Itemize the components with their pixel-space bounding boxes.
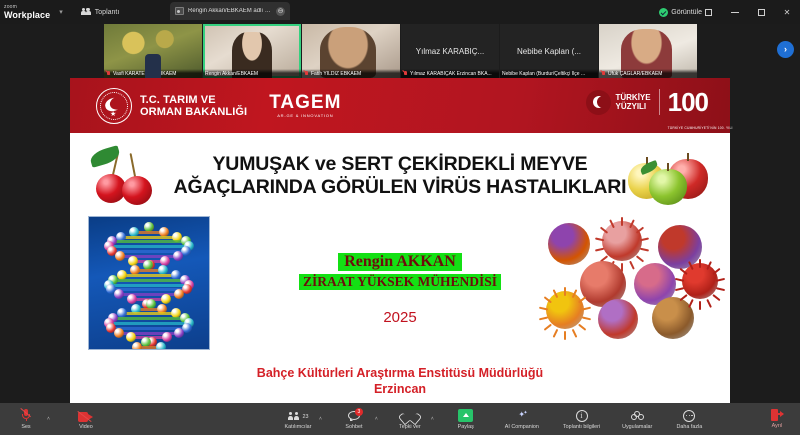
maximize-icon <box>758 9 765 16</box>
participant-name: Yılmaz KARABIÇAK Erzincan BKA... <box>410 71 492 77</box>
brand-main-label: Workplace <box>4 11 50 20</box>
author-role: ZİRAAT YÜKSEK MÜHENDİSİ <box>299 274 501 290</box>
close-icon: ✕ <box>784 8 791 17</box>
close-icon[interactable]: ⊖ <box>276 7 285 16</box>
chat-icon: 3 <box>348 411 360 422</box>
chat-button[interactable]: 3 Sohbet <box>334 409 374 430</box>
chevron-down-icon[interactable]: ▾ <box>59 8 63 16</box>
author-name: Rengin AKKAN <box>338 253 462 271</box>
meetings-label: Toplantı <box>95 9 120 16</box>
meeting-info-label: Toplantı bilgileri <box>563 424 600 430</box>
slide-author-block: Rengin AKKAN ZİRAAT YÜKSEK MÜHENDİSİ 202… <box>70 253 730 326</box>
layout-icon <box>705 9 712 16</box>
chat-unread-badge: 3 <box>355 408 363 416</box>
zoom-workplace-logo: zoom Workplace <box>4 5 50 20</box>
ellipsis-icon <box>683 410 695 422</box>
apps-button[interactable]: Uygulamalar <box>617 409 657 430</box>
tagem-subtitle: AR-GE & INNOVATION <box>269 113 341 118</box>
video-tab-icon <box>175 7 184 15</box>
participant-initials: Nebibe Kaplan (... <box>517 47 581 56</box>
participant-name: Vasfi KARATEPE / EBKAEM <box>113 71 176 77</box>
share-label: Paylaş <box>458 424 474 430</box>
people-icon <box>81 8 92 17</box>
tile-name-bar: Vasfi KARATEPE / EBKAEM <box>104 69 202 78</box>
reactions-button[interactable]: Tepki ver <box>390 409 430 430</box>
participant-name: Fatih YILDIZ EBKAEM <box>311 71 361 77</box>
video-tile-nebibe[interactable]: Nebibe Kaplan (... Nebibe Kaplan (Burdur… <box>500 24 598 78</box>
meeting-tab-title: Rengin Akkan/EBKAEM adlı kişini... <box>188 8 272 14</box>
tile-name-bar: Ufuk ÇAĞLAR/EBKAEM <box>599 69 697 78</box>
shared-screen-slide: ★ T.C. TARIM VE ORMAN BAKANLIĞI TAGEM AR… <box>70 78 730 403</box>
mic-off-icon <box>22 409 31 422</box>
participants-count: 23 <box>303 411 309 420</box>
audio-options-caret[interactable]: ˄ <box>47 416 52 422</box>
slide-year: 2025 <box>70 309 730 326</box>
participants-icon <box>288 412 301 422</box>
slide-body: YUMUŞAK ve SERT ÇEKİRDEKLİ MEYVE AĞAÇLAR… <box>70 133 730 403</box>
mic-off-icon <box>106 71 111 77</box>
participant-name: Nebibe Kaplan (Burdur/Çeltikçi İlçe ... <box>502 71 585 77</box>
participants-options-caret[interactable]: ˄ <box>319 416 324 422</box>
tile-name-bar: Fatih YILDIZ EBKAEM <box>302 69 400 78</box>
ministry-line-2: ORMAN BAKANLIĞI <box>140 106 247 118</box>
heart-icon <box>404 411 416 422</box>
centenary-number: 100 TÜRKİYE CUMHURİYETİ'NİN 100. YILI <box>668 89 708 115</box>
main-controls-group: 23 Katılımcılar ˄ 3 Sohbet ˄ Tepki ver <box>278 403 709 435</box>
centenary-logos: TÜRKİYE YÜZYILI 100 TÜRKİYE CUMHURİYETİ'… <box>586 89 708 115</box>
leave-label: Ayrıl <box>772 423 783 429</box>
participants-button[interactable]: 23 Katılımcılar <box>278 409 318 430</box>
sparkle-icon: ✦✦ <box>515 410 528 422</box>
apps-icon <box>631 411 644 422</box>
mic-off-icon <box>601 71 606 77</box>
meeting-toolbar: Ses ˄ Video 23 Katılımcılar ˄ <box>0 403 800 435</box>
brand-small-label: zoom <box>4 5 50 10</box>
window-controls-group: Görüntüle ✕ <box>659 0 800 24</box>
turkiye-yuzyili-logo: TÜRKİYE YÜZYILI <box>586 90 650 115</box>
mic-off-icon <box>304 71 309 77</box>
reactions-options-caret[interactable]: ˄ <box>431 416 436 422</box>
zoom-meeting-window: zoom Workplace ▾ Toplantı Rengin Akkan/E… <box>0 0 800 435</box>
leave-meeting-button[interactable]: Ayrıl <box>760 403 794 435</box>
video-tile-vasfi[interactable]: Vasfi KARATEPE / EBKAEM <box>104 24 202 78</box>
av-controls-group: Ses ˄ Video <box>6 403 106 435</box>
audio-label: Ses <box>21 424 30 430</box>
ministry-name: T.C. TARIM VE ORMAN BAKANLIĞI <box>140 94 247 118</box>
filmstrip-next-button[interactable]: › <box>777 41 794 58</box>
video-tile-fatih[interactable]: Fatih YILDIZ EBKAEM <box>302 24 400 78</box>
tile-name-bar: Yılmaz KARABIÇAK Erzincan BKA... <box>401 69 499 78</box>
minimize-icon <box>731 12 739 13</box>
turkiye-line-2: YÜZYILI <box>615 102 650 111</box>
turkiye-line-1: TÜRKİYE <box>615 93 650 102</box>
video-label: Video <box>79 424 93 430</box>
participant-name: Rengin Akkan/EBKAEM <box>205 71 258 77</box>
title-bar: zoom Workplace ▾ Toplantı Rengin Akkan/E… <box>0 0 800 24</box>
slide-header-banner: ★ T.C. TARIM VE ORMAN BAKANLIĞI TAGEM AR… <box>70 78 730 133</box>
more-button[interactable]: Daha fazla <box>669 409 709 430</box>
maximize-button[interactable] <box>748 0 774 24</box>
leave-icon <box>771 409 783 421</box>
ai-companion-button[interactable]: ✦✦ AI Companion <box>500 409 544 430</box>
reactions-label: Tepki ver <box>399 424 421 430</box>
footer-line-1: Bahçe Kültürleri Araştırma Enstitüsü Müd… <box>70 365 730 381</box>
video-tile-yilmaz[interactable]: Yılmaz KARABIÇ... Yılmaz KARABIÇAK Erzin… <box>401 24 499 78</box>
mic-off-icon <box>403 71 408 77</box>
meeting-tab[interactable]: Rengin Akkan/EBKAEM adlı kişini... ⊖ <box>170 2 290 20</box>
slide-title: YUMUŞAK ve SERT ÇEKİRDEKLİ MEYVE AĞAÇLAR… <box>70 153 730 199</box>
minimize-button[interactable] <box>722 0 748 24</box>
chat-options-caret[interactable]: ˄ <box>375 416 380 422</box>
crescent-icon <box>586 90 611 115</box>
slide-footer: Bahçe Kültürleri Araştırma Enstitüsü Müd… <box>70 365 730 397</box>
participant-filmstrip[interactable]: Vasfi KARATEPE / EBKAEM Rengin Akkan/EBK… <box>0 24 800 78</box>
ministry-line-1: T.C. TARIM VE <box>140 94 247 106</box>
apps-label: Uygulamalar <box>622 424 652 430</box>
view-label: Görüntüle <box>671 9 702 16</box>
share-screen-icon <box>458 409 473 422</box>
more-label: Daha fazla <box>676 424 702 430</box>
close-button[interactable]: ✕ <box>774 0 800 24</box>
participants-label: Katılımcılar <box>285 424 312 430</box>
video-tile-rengin[interactable]: Rengin Akkan/EBKAEM <box>203 24 301 78</box>
check-circle-icon <box>659 8 668 17</box>
video-tile-ufuk[interactable]: Ufuk ÇAĞLAR/EBKAEM <box>599 24 697 78</box>
slide-title-line-2: AĞAÇLARINDA GÖRÜLEN VİRÜS HASTALIKLARI <box>70 176 730 199</box>
tagem-logo: TAGEM AR-GE & INNOVATION <box>269 93 341 118</box>
tile-name-bar: Nebibe Kaplan (Burdur/Çeltikçi İlçe ... <box>500 69 598 78</box>
participant-initials: Yılmaz KARABIÇ... <box>416 47 484 56</box>
tile-name-bar: Rengin Akkan/EBKAEM <box>203 69 301 78</box>
ai-companion-label: AI Companion <box>505 424 539 430</box>
meeting-info-button[interactable]: i Toplantı bilgileri <box>558 409 605 430</box>
camera-off-icon <box>78 412 93 422</box>
view-button[interactable]: Görüntüle <box>659 8 712 17</box>
participant-name: Ufuk ÇAĞLAR/EBKAEM <box>608 71 662 77</box>
divider <box>659 89 660 115</box>
slide-title-line-1: YUMUŞAK ve SERT ÇEKİRDEKLİ MEYVE <box>70 153 730 176</box>
ministry-emblem-icon: ★ <box>96 88 132 124</box>
video-button[interactable]: Video <box>66 409 106 430</box>
tagem-name: TAGEM <box>269 93 341 112</box>
turkiye-yuzyili-text: TÜRKİYE YÜZYILI <box>615 93 650 111</box>
share-screen-button[interactable]: Paylaş <box>446 409 486 430</box>
footer-line-2: Erzincan <box>70 381 730 397</box>
meetings-nav-item[interactable]: Toplantı <box>81 8 120 17</box>
info-icon: i <box>576 410 588 422</box>
audio-button[interactable]: Ses <box>6 409 46 430</box>
chat-label: Sohbet <box>345 424 362 430</box>
